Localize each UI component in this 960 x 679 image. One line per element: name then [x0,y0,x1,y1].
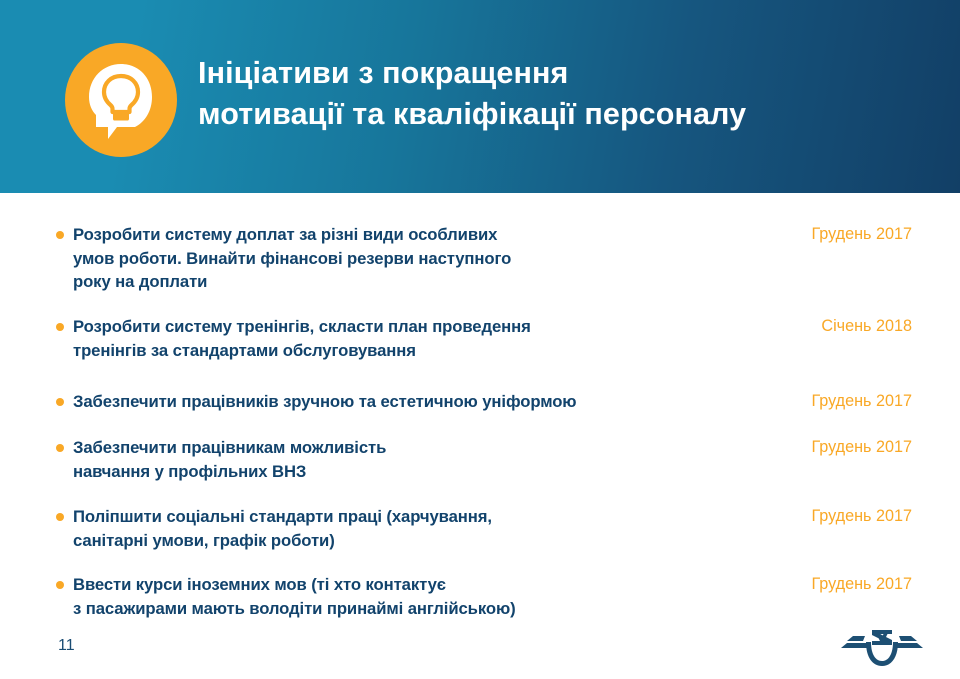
list-item: Забезпечити працівників зручною та естет… [56,390,912,414]
list-item-content: Розробити систему тренінгів, скласти пла… [56,315,531,362]
list-item-date: Грудень 2017 [795,505,912,529]
list-item: Забезпечити працівникам можливість навча… [56,436,912,483]
list-item-content: Розробити систему доплат за різні види о… [56,223,511,294]
ukrzaliznytsia-winged-wheel-logo [841,628,923,668]
list-item-date: Грудень 2017 [795,223,912,247]
list-item: Розробити систему тренінгів, скласти пла… [56,315,912,362]
page-number: 11 [58,636,75,656]
bullet-icon [56,231,64,239]
list-item-date: Грудень 2017 [795,573,912,597]
bullet-icon [56,398,64,406]
list-item: Розробити систему доплат за різні види о… [56,223,912,294]
list-item-content: Ввести курси іноземних мов (ті хто конта… [56,573,516,620]
bullet-icon [56,581,64,589]
bullet-icon [56,513,64,521]
page-title-line-1: Ініціативи з покращення [198,53,938,94]
list-item-text: Забезпечити працівникам можливість навча… [73,436,386,483]
list-item-content: Забезпечити працівникам можливість навча… [56,436,386,483]
list-item: Поліпшити соціальні стандарти праці (хар… [56,505,912,552]
page-title-line-2: мотивації та кваліфікації персоналу [198,94,938,135]
list-item-text: Ввести курси іноземних мов (ті хто конта… [73,573,516,620]
bullet-icon [56,444,64,452]
list-item-text: Розробити систему тренінгів, скласти пла… [73,315,531,362]
list-item-date: Грудень 2017 [795,390,912,414]
slide-header: Ініціативи з покращення мотивації та ква… [0,0,960,193]
list-item: Ввести курси іноземних мов (ті хто конта… [56,573,912,620]
list-item-date: Грудень 2017 [795,436,912,460]
initiatives-list: Розробити систему доплат за різні види о… [0,193,960,593]
list-item-text: Розробити систему доплат за різні види о… [73,223,511,294]
bullet-icon [56,323,64,331]
list-item-content: Забезпечити працівників зручною та естет… [56,390,576,414]
head-lightbulb-icon [63,42,179,158]
slide: Ініціативи з покращення мотивації та ква… [0,0,960,679]
list-item-text: Поліпшити соціальні стандарти праці (хар… [73,505,492,552]
list-item-date: Січень 2018 [805,315,912,339]
page-title: Ініціативи з покращення мотивації та ква… [198,53,938,135]
list-item-text: Забезпечити працівників зручною та естет… [73,390,576,414]
list-item-content: Поліпшити соціальні стандарти праці (хар… [56,505,492,552]
